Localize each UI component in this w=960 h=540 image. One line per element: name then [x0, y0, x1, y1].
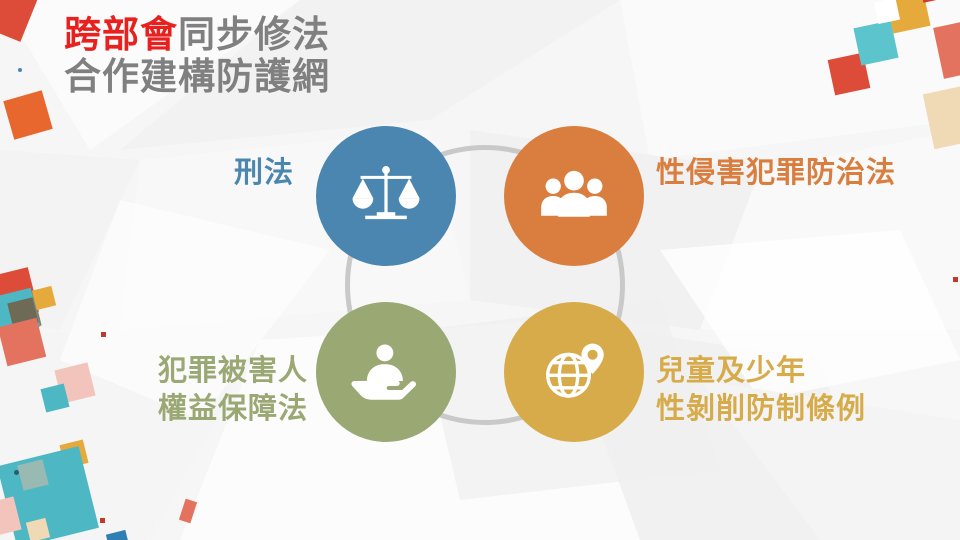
slide-title: 跨部會同步修法 合作建構防護網	[64, 14, 330, 98]
title-line-2: 合作建構防護網	[64, 56, 330, 98]
label-sexual-assault-prevention-act: 性侵害犯罪防治法	[656, 154, 896, 192]
hand-holding-person-icon	[350, 336, 422, 408]
scales-of-justice-icon	[349, 159, 423, 233]
label-child-youth-line-1: 兒童及少年	[656, 352, 866, 390]
label-criminal-law: 刑法	[234, 154, 294, 192]
label-crime-victim-line-1: 犯罪被害人	[158, 352, 308, 390]
people-group-icon	[539, 161, 609, 231]
slide-canvas: 跨部會同步修法 合作建構防護網	[0, 0, 960, 540]
node-sexual-assault-prevention-act[interactable]	[504, 126, 644, 266]
label-crime-victim-line-2: 權益保障法	[158, 390, 308, 428]
label-crime-victim-rights-act: 犯罪被害人 權益保障法	[158, 352, 308, 429]
node-crime-victim-rights-act[interactable]	[316, 302, 456, 442]
label-child-youth-line-2: 性剝削防制條例	[656, 390, 866, 428]
title-line-1: 跨部會同步修法	[64, 14, 330, 56]
node-criminal-law[interactable]	[316, 126, 456, 266]
label-sexual-assault-line-1: 性侵害犯罪防治法	[656, 154, 896, 192]
title-highlight: 跨部會	[64, 14, 178, 55]
node-child-youth-sexual-exploitation-act[interactable]	[504, 302, 644, 442]
label-criminal-law-line-1: 刑法	[234, 154, 294, 192]
label-child-youth-sexual-exploitation-act: 兒童及少年 性剝削防制條例	[656, 352, 866, 429]
globe-location-pin-icon	[539, 337, 609, 407]
title-line-1-rest: 同步修法	[178, 14, 330, 55]
